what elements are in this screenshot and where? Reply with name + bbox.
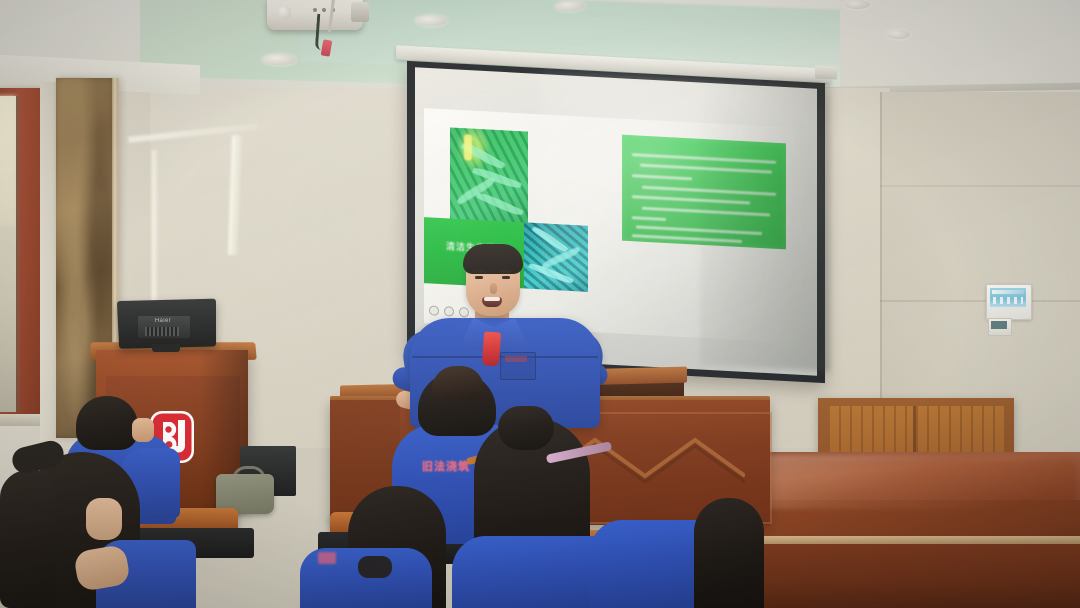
window-daylight-glow bbox=[0, 96, 16, 226]
recessed-downlight-icon bbox=[262, 54, 296, 65]
pointer-tool-icon[interactable] bbox=[444, 306, 454, 317]
monitor-stand bbox=[152, 344, 180, 352]
presenter-nose bbox=[490, 283, 497, 294]
attendee-cheek bbox=[86, 498, 122, 540]
control-panel-title-row bbox=[992, 290, 1024, 294]
presenter-eye bbox=[502, 276, 510, 279]
recessed-downlight-icon bbox=[886, 30, 910, 39]
recessed-downlight-icon bbox=[844, 0, 870, 9]
attendee-ear-cheek bbox=[132, 418, 154, 442]
control-panel-buttons[interactable] bbox=[993, 297, 1023, 304]
uniform-badge bbox=[505, 356, 527, 362]
presenter-eyebrow bbox=[474, 270, 485, 273]
uniform-print: 旧法浇筑 bbox=[422, 458, 470, 474]
window-mullion bbox=[16, 96, 20, 412]
presenter-eyebrow bbox=[500, 270, 511, 273]
wall-seam bbox=[880, 185, 1080, 187]
stage-floor-reflection bbox=[760, 455, 1080, 509]
column-side-strip bbox=[40, 82, 57, 440]
ceiling-projector bbox=[267, 0, 363, 30]
slide-plant-photo-left bbox=[450, 127, 528, 225]
uniform-logo-print bbox=[318, 552, 336, 564]
wall-light-reflection bbox=[152, 150, 158, 310]
thermostat-display bbox=[991, 321, 1007, 329]
red-notebook-in-pocket bbox=[482, 331, 501, 366]
monitor-brand-label: Haier bbox=[141, 317, 185, 325]
projector-button-icon bbox=[322, 8, 326, 12]
slide-body-textbox bbox=[622, 135, 786, 250]
recessed-downlight-icon bbox=[415, 15, 447, 26]
presenter-hair bbox=[463, 244, 523, 274]
projector-focus-knob bbox=[278, 6, 291, 19]
projector-lens-icon bbox=[351, 2, 369, 22]
previous-slide-icon[interactable] bbox=[429, 305, 439, 316]
slide-plant-photo-right bbox=[524, 222, 588, 291]
projector-button-icon bbox=[313, 8, 317, 12]
presenter-eye bbox=[475, 276, 483, 279]
hair-clip bbox=[358, 556, 392, 578]
presenter-teeth bbox=[484, 297, 500, 301]
monitor-vent-icon bbox=[145, 327, 179, 336]
meeting-room-photo: 清洁生产措施 bbox=[0, 0, 1080, 608]
slide-show-controls[interactable] bbox=[426, 304, 469, 318]
projection-screen-housing-cap bbox=[815, 65, 837, 79]
wall-seam bbox=[880, 300, 1080, 302]
magnify-tool-icon[interactable] bbox=[459, 307, 469, 318]
